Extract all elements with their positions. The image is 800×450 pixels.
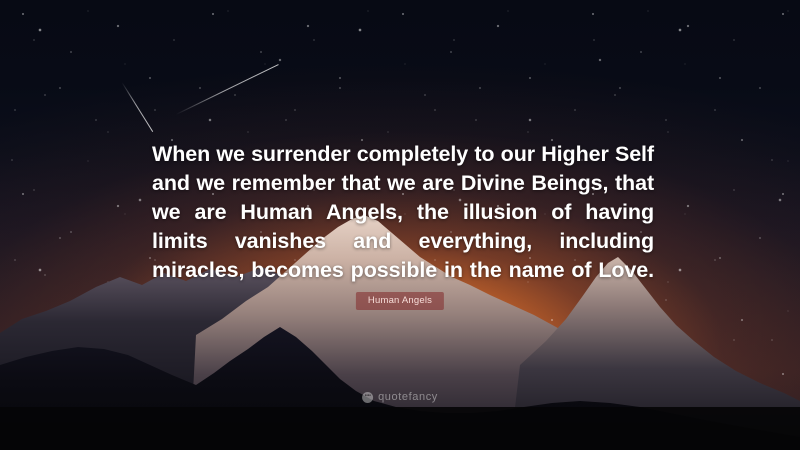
quote-mark-glyph: ““ (365, 394, 371, 401)
watermark-brand-label: quotefancy (378, 391, 438, 403)
quote-mark-badge-icon: ““ (362, 392, 373, 403)
quotefancy-watermark[interactable]: ““ quotefancy (362, 391, 438, 403)
base-shadow (0, 407, 800, 450)
quote-paragraph: When we surrender completely to our High… (152, 140, 654, 314)
quote-poster: When we surrender completely to our High… (0, 0, 800, 450)
quote-text: When we surrender completely to our High… (152, 140, 654, 314)
attribution-badge: Human Angels (356, 292, 444, 310)
attribution-author: Human Angels (368, 295, 432, 306)
